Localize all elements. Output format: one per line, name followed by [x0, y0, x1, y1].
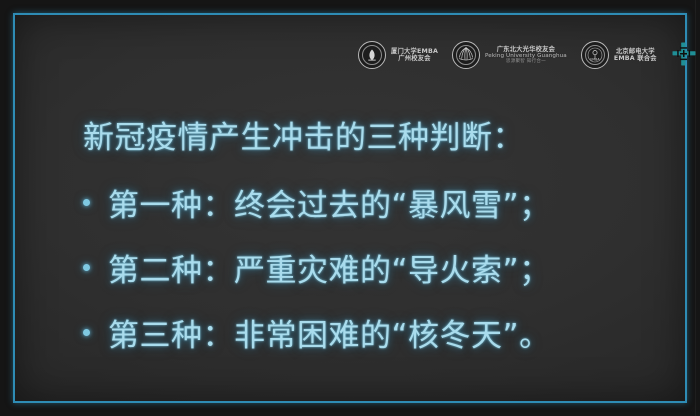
accelerating-business-school-cross-icon — [671, 41, 699, 69]
svg-text:EMBA: EMBA — [590, 57, 600, 61]
slide-canvas: 厦门大学EMBA 广州校友会 — [0, 0, 700, 416]
bupt-seal-icon: EMBA — [581, 41, 609, 69]
xiamen-university-seal-icon — [358, 41, 386, 69]
partner-logo-bar: 厦门大学EMBA 广州校友会 — [358, 35, 700, 75]
bullet-dot-icon — [83, 199, 90, 206]
peking-university-guanghua-seal-icon — [452, 41, 480, 69]
logo-line-primary: 北京邮电大学 — [616, 48, 655, 55]
logo-xiamen-university: 厦门大学EMBA 广州校友会 — [358, 41, 438, 69]
logo-pku-guanghua: 广东北大光华校友会 Peking University Guanghua 思源聚… — [452, 41, 567, 69]
bullet-dot-icon — [83, 264, 90, 271]
logo-bupt-emba: EMBA 北京邮电大学 EMBA 联合会 — [581, 41, 657, 69]
bullet-item-2: 第二种：严重灾难的“导火索”； — [83, 245, 551, 290]
bullet-label: 第一种：终会过去的“暴风雪”； — [108, 180, 551, 225]
logo-bupt-emba-text: 北京邮电大学 EMBA 联合会 — [614, 48, 657, 62]
bullet-label: 第三种：非常困难的“核冬天”。 — [108, 310, 551, 355]
logo-line-secondary: 思源聚智 知行合一 — [506, 59, 546, 64]
logo-line-primary: 广东北大光华校友会 — [497, 46, 555, 53]
logo-line-secondary: 广州校友会 — [398, 55, 430, 62]
slide-panel: 厦门大学EMBA 广州校友会 — [13, 13, 687, 403]
logo-accelerating-business-school: Accelerating Business School 加速商学院 — [671, 41, 700, 69]
logo-pku-guanghua-text: 广东北大光华校友会 Peking University Guanghua 思源聚… — [485, 46, 567, 64]
logo-line-secondary: EMBA 联合会 — [614, 55, 657, 62]
bullet-label: 第二种：严重灾难的“导火索”； — [108, 245, 551, 290]
logo-xiamen-university-text: 厦门大学EMBA 广州校友会 — [391, 48, 438, 62]
bullet-item-1: 第一种：终会过去的“暴风雪”； — [83, 180, 551, 225]
slide-title: 新冠疫情产生冲击的三种判断： — [83, 112, 524, 157]
logo-line-primary: 厦门大学EMBA — [391, 48, 438, 55]
bullet-dot-icon — [83, 329, 90, 336]
bullet-item-3: 第三种：非常困难的“核冬天”。 — [83, 310, 551, 355]
